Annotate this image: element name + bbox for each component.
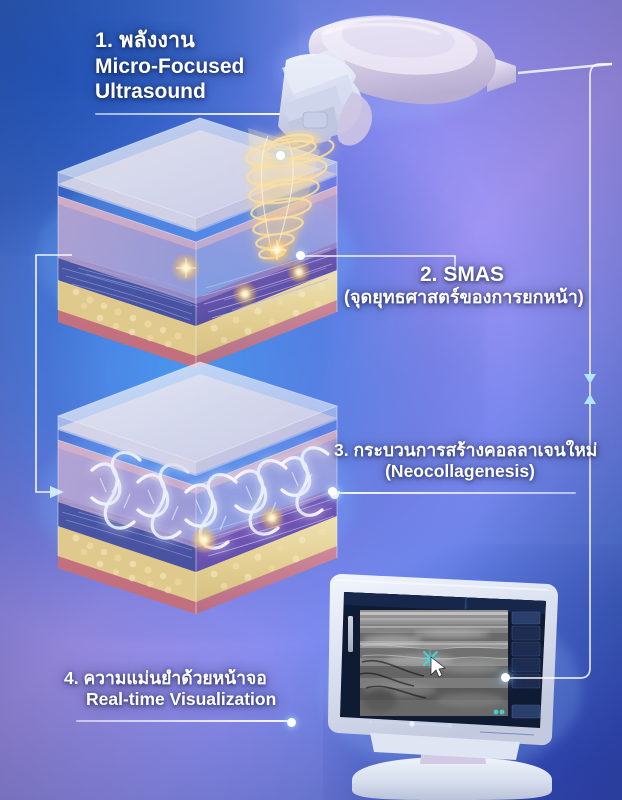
label-1-micro-focused-ultrasound: 1. พลังงาน Micro-Focused Ultrasound [95, 28, 280, 115]
label-3-subtitle: (Neocollagenesis) [334, 461, 586, 482]
block1-connector-dot [296, 251, 305, 260]
label-3-underline [334, 492, 576, 494]
label-1-en-line2: Ultrasound [95, 79, 280, 104]
label-1-en-line1: Micro-Focused [95, 54, 280, 79]
label-4-underline [76, 720, 291, 722]
label-3-neocollagenesis: 3. กระบวนการสร้างคอลลาเจนใหม่ (Neocollag… [334, 440, 586, 494]
monitor-connector-dot [501, 673, 510, 682]
label-2-subtitle: (จุดยุทธศาสตร์ของการยกหน้า) [344, 287, 580, 309]
block2-connector-dot [328, 487, 337, 496]
label-1-underline [95, 113, 280, 115]
label-3-title: 3. กระบวนการสร้างคอลลาเจนใหม่ [334, 440, 586, 461]
label-2-smas: 2. SMAS (จุดยุทธศาสตร์ของการยกหน้า) [344, 262, 580, 309]
label-4-real-time-visualization: 4. ความแม่นยำด้วยหน้าจอ Real-time Visual… [64, 668, 296, 722]
label-1-number-and-thai: 1. [95, 28, 113, 52]
label-4-title: 4. ความแม่นยำด้วยหน้าจอ [64, 668, 296, 689]
label-4-subtitle: Real-time Visualization [86, 689, 296, 710]
label-4-endpoint-dot [287, 718, 296, 727]
label-1-endpoint-dot [276, 151, 285, 160]
label-2-title: 2. SMAS [344, 262, 580, 287]
infographic-canvas: 1. พลังงาน Micro-Focused Ultrasound 2. S… [0, 0, 622, 800]
label-1-thai: พลังงาน [119, 28, 195, 52]
